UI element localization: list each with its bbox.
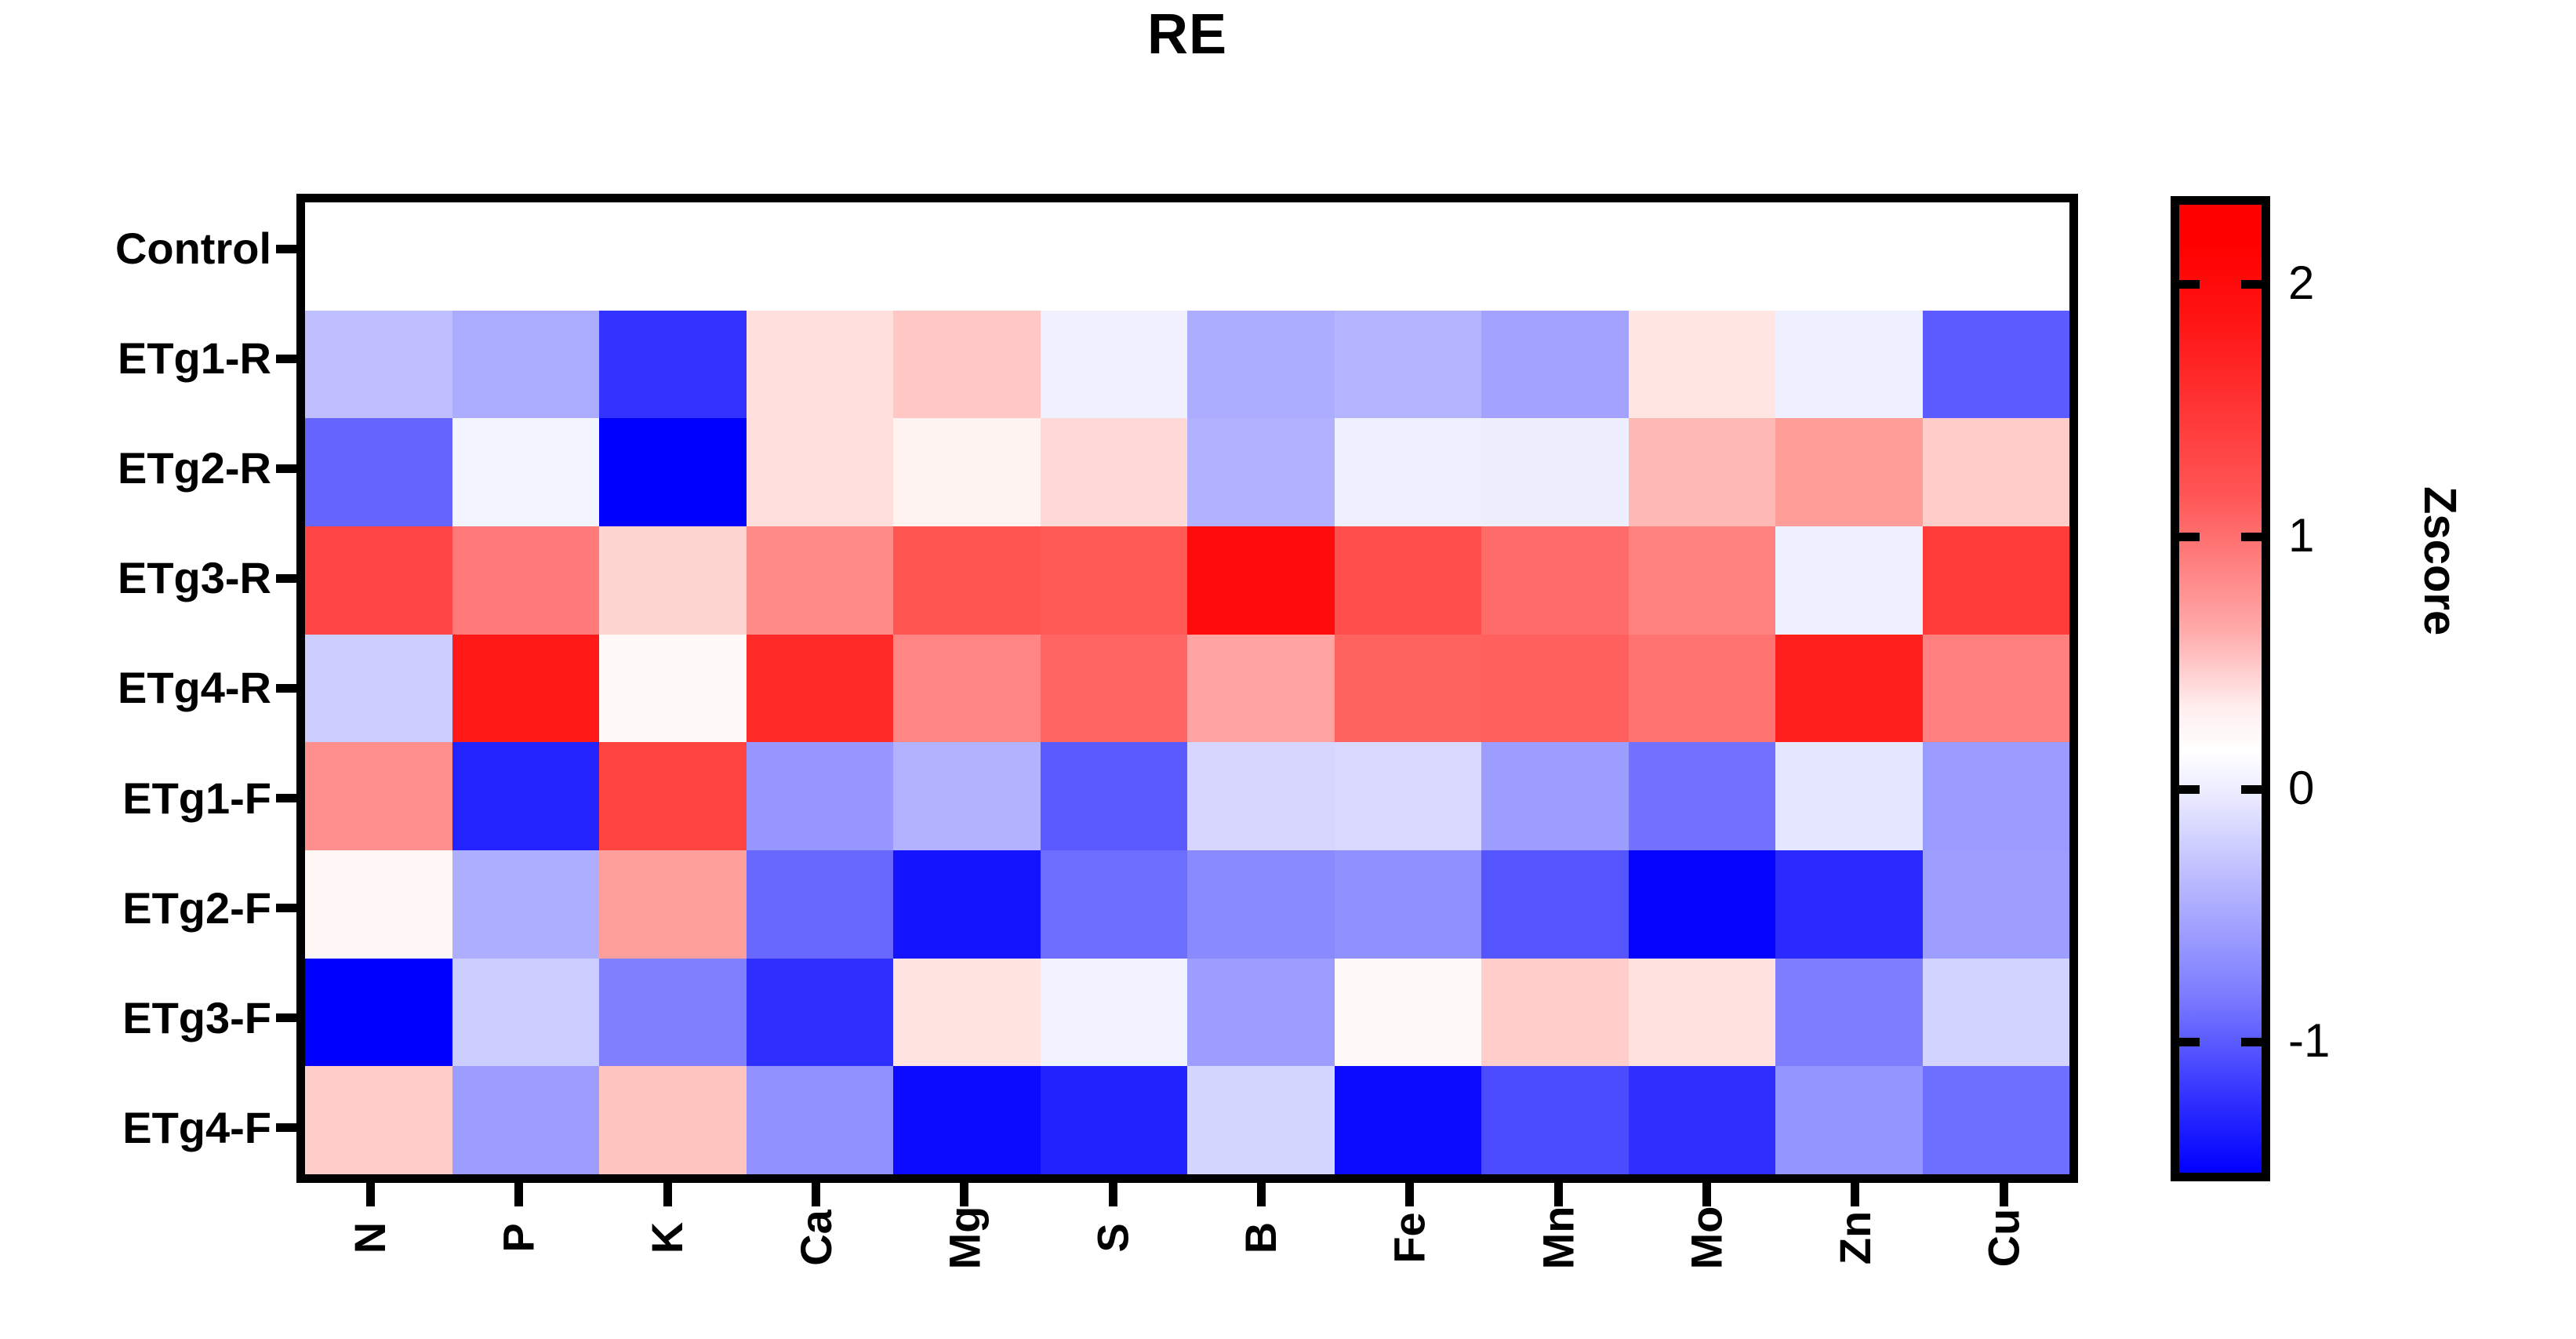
y-axis-tick: ETg2-R — [0, 413, 296, 523]
x-axis-tick-label: P — [497, 1223, 541, 1252]
x-axis-tick-label: S — [1091, 1223, 1135, 1252]
heatmap-cell — [1923, 742, 2070, 850]
heatmap-cell — [1481, 1066, 1629, 1174]
x-axis-tick: N — [296, 1183, 445, 1339]
y-axis-tick-label: Control — [115, 227, 271, 271]
heatmap-cell — [1481, 742, 1629, 850]
x-axis: NPKCaMgSBFeMnMoZnCu — [296, 1183, 2078, 1339]
heatmap-cell — [599, 202, 747, 311]
y-axis-tick: ETg3-F — [0, 963, 296, 1073]
colorbar-tick-mark — [2179, 280, 2200, 289]
x-axis-tick: K — [594, 1183, 742, 1339]
x-axis-tick: Mg — [890, 1183, 1038, 1339]
y-axis-tick-mark — [276, 355, 296, 363]
heatmap-cell — [1481, 418, 1629, 526]
heatmap-cell — [1335, 202, 1482, 311]
heatmap-cell — [599, 1066, 747, 1174]
heatmap-cell — [305, 311, 452, 419]
heatmap-cell — [1187, 1066, 1335, 1174]
heatmap-cell — [1481, 311, 1629, 419]
colorbar-tick-label: 1 — [2288, 512, 2314, 559]
y-axis-tick-label: ETg3-F — [122, 996, 271, 1040]
heatmap-cell — [1481, 526, 1629, 635]
y-axis-tick-label: ETg1-F — [122, 777, 271, 821]
heatmap-cell — [1041, 202, 1188, 311]
heatmap-cell — [452, 202, 600, 311]
heatmap-cell — [1481, 635, 1629, 743]
y-axis-tick-mark — [276, 794, 296, 802]
heatmap-cell — [1775, 526, 1923, 635]
y-axis-tick: ETg1-F — [0, 744, 296, 853]
colorbar-tick-mark — [2241, 785, 2262, 794]
x-axis-tick: Cu — [1930, 1183, 2078, 1339]
x-axis-tick: P — [445, 1183, 593, 1339]
x-axis-tick: Mo — [1633, 1183, 1781, 1339]
heatmap-grid — [305, 202, 2069, 1174]
heatmap-cell — [747, 311, 894, 419]
y-axis-tick-mark — [276, 1123, 296, 1132]
x-axis-tick-label: Ca — [794, 1210, 838, 1266]
heatmap-cell — [1629, 202, 1776, 311]
heatmap-cell — [893, 742, 1041, 850]
heatmap-cell — [1923, 635, 2070, 743]
heatmap-cell — [1775, 418, 1923, 526]
heatmap-cell — [1187, 311, 1335, 419]
heatmap-cell — [599, 418, 747, 526]
x-axis-tick-label: K — [645, 1222, 689, 1253]
colorbar-tick-mark — [2241, 1038, 2262, 1046]
heatmap-cell — [1335, 959, 1482, 1067]
heatmap-cell — [1629, 959, 1776, 1067]
heatmap-cell — [1629, 635, 1776, 743]
heatmap-cell — [1775, 311, 1923, 419]
heatmap-cell — [305, 418, 452, 526]
heatmap-cell — [1187, 526, 1335, 635]
heatmap-cell — [305, 526, 452, 635]
heatmap-cell — [1335, 526, 1482, 635]
heatmap-cell — [1187, 742, 1335, 850]
colorbar-tick-mark — [2241, 533, 2262, 541]
heatmap-cell — [1629, 311, 1776, 419]
x-axis-tick: Fe — [1335, 1183, 1484, 1339]
heatmap-cell — [1041, 959, 1188, 1067]
x-axis-tick-mark — [1257, 1183, 1266, 1206]
heatmap-cell — [893, 1066, 1041, 1174]
colorbar-axis-label: Zscore — [2417, 486, 2462, 635]
colorbar-tick-label: -1 — [2288, 1017, 2330, 1064]
x-axis-tick-label: Mn — [1536, 1206, 1580, 1270]
heatmap-cell — [1923, 202, 2070, 311]
heatmap-cell — [1187, 635, 1335, 743]
heatmap-cell — [1335, 1066, 1482, 1174]
heatmap-cell — [747, 850, 894, 959]
x-axis-tick-label: Fe — [1388, 1212, 1432, 1263]
heatmap-cell — [1629, 526, 1776, 635]
y-axis-tick: ETg2-F — [0, 853, 296, 963]
x-axis-tick-mark — [1405, 1183, 1414, 1206]
heatmap-cell — [305, 742, 452, 850]
x-axis-tick-mark — [366, 1183, 375, 1206]
heatmap-cell — [305, 850, 452, 959]
x-axis-tick-label: Mg — [943, 1206, 986, 1270]
y-axis-tick-mark — [276, 245, 296, 253]
heatmap-cell — [1041, 635, 1188, 743]
heatmap-cell — [1187, 418, 1335, 526]
heatmap-cell — [893, 311, 1041, 419]
heatmap-cell — [1041, 742, 1188, 850]
y-axis-tick: ETg4-R — [0, 633, 296, 743]
x-axis-tick-mark — [2000, 1183, 2008, 1206]
heatmap-cell — [1187, 959, 1335, 1067]
heatmap-cell — [305, 202, 452, 311]
heatmap-cell — [1335, 635, 1482, 743]
y-axis-tick-mark — [276, 684, 296, 693]
x-axis-tick: S — [1039, 1183, 1187, 1339]
x-axis-tick: Zn — [1781, 1183, 1929, 1339]
heatmap-cell — [599, 742, 747, 850]
heatmap-cell — [599, 850, 747, 959]
heatmap-cell — [599, 526, 747, 635]
heatmap-cell — [747, 526, 894, 635]
x-axis-tick: Ca — [742, 1183, 890, 1339]
heatmap-cell — [1481, 202, 1629, 311]
x-axis-tick-label: Mo — [1685, 1206, 1729, 1270]
y-axis-tick-mark — [276, 464, 296, 473]
colorbar-tick-mark — [2179, 1038, 2200, 1046]
heatmap-cell — [1629, 742, 1776, 850]
y-axis-tick: ETg3-R — [0, 523, 296, 633]
heatmap-cell — [452, 742, 600, 850]
y-axis-tick: Control — [0, 194, 296, 304]
y-axis-tick-label: ETg3-R — [118, 556, 271, 600]
heatmap-cell — [1041, 1066, 1188, 1174]
y-axis-tick-mark — [276, 574, 296, 583]
heatmap-cell — [1629, 418, 1776, 526]
heatmap-cell — [599, 311, 747, 419]
heatmap-cell — [599, 635, 747, 743]
y-axis-tick-mark — [276, 904, 296, 912]
heatmap-cell — [1335, 418, 1482, 526]
x-axis-tick-mark — [663, 1183, 672, 1206]
heatmap-cell — [747, 202, 894, 311]
y-axis-tick-label: ETg2-R — [118, 446, 271, 490]
heatmap-cell — [452, 850, 600, 959]
heatmap-cell — [452, 418, 600, 526]
y-axis: ControlETg1-RETg2-RETg3-RETg4-RETg1-FETg… — [0, 194, 296, 1183]
x-axis-tick: B — [1187, 1183, 1335, 1339]
heatmap-cell — [1923, 850, 2070, 959]
heatmap-cell — [1041, 526, 1188, 635]
x-axis-tick-mark — [1851, 1183, 1859, 1206]
x-axis-tick-label: N — [349, 1222, 393, 1253]
heatmap-cell — [1923, 1066, 2070, 1174]
heatmap-cell — [305, 635, 452, 743]
colorbar-tick-label: 0 — [2288, 765, 2314, 812]
heatmap-cell — [1481, 959, 1629, 1067]
heatmap-cell — [452, 311, 600, 419]
heatmap-cell — [1923, 526, 2070, 635]
heatmap-cell — [1775, 850, 1923, 959]
y-axis-tick-label: ETg4-F — [122, 1106, 271, 1150]
heatmap-cell — [747, 1066, 894, 1174]
heatmap-cell — [1923, 418, 2070, 526]
x-axis-tick-mark — [1702, 1183, 1711, 1206]
heatmap-cell — [599, 959, 747, 1067]
heatmap-cell — [305, 1066, 452, 1174]
heatmap-cell — [1923, 959, 2070, 1067]
heatmap-cell — [893, 526, 1041, 635]
heatmap-cell — [452, 959, 600, 1067]
y-axis-tick: ETg1-R — [0, 304, 296, 413]
heatmap-cell — [1481, 850, 1629, 959]
heatmap-cell — [1775, 742, 1923, 850]
heatmap-plot-area — [296, 194, 2078, 1183]
heatmap-cell — [305, 959, 452, 1067]
heatmap-cell — [1041, 418, 1188, 526]
heatmap-cell — [893, 635, 1041, 743]
heatmap-cell — [1629, 1066, 1776, 1174]
heatmap-cell — [1187, 850, 1335, 959]
y-axis-tick: ETg4-F — [0, 1073, 296, 1183]
y-axis-tick-label: ETg1-R — [118, 337, 271, 380]
heatmap-cell — [1335, 742, 1482, 850]
x-axis-tick-mark — [812, 1183, 820, 1206]
heatmap-cell — [747, 959, 894, 1067]
heatmap-cell — [747, 742, 894, 850]
heatmap-cell — [1335, 311, 1482, 419]
x-axis-tick-label: Zn — [1833, 1211, 1877, 1264]
colorbar-tick-mark — [2179, 785, 2200, 794]
x-axis-tick-mark — [1109, 1183, 1117, 1206]
heatmap-cell — [452, 635, 600, 743]
heatmap-cell — [1923, 311, 2070, 419]
heatmap-cell — [1629, 850, 1776, 959]
colorbar-tick-mark — [2241, 280, 2262, 289]
page-title: RE — [296, 6, 2078, 63]
heatmap-cell — [893, 418, 1041, 526]
colorbar: 210-1 — [2171, 196, 2270, 1181]
x-axis-tick-label: Cu — [1982, 1209, 2026, 1268]
x-axis-tick: Mn — [1484, 1183, 1633, 1339]
y-axis-tick-label: ETg2-F — [122, 886, 271, 930]
heatmap-cell — [452, 1066, 600, 1174]
colorbar-tick-label: 2 — [2288, 260, 2314, 307]
heatmap-cell — [747, 418, 894, 526]
heatmap-cell — [893, 850, 1041, 959]
heatmap-cell — [1041, 311, 1188, 419]
heatmap-cell — [1775, 959, 1923, 1067]
heatmap-cell — [747, 635, 894, 743]
x-axis-tick-mark — [514, 1183, 523, 1206]
y-axis-tick-label: ETg4-R — [118, 666, 271, 710]
heatmap-cell — [1775, 635, 1923, 743]
heatmap-cell — [1775, 1066, 1923, 1174]
colorbar-gradient — [2171, 196, 2270, 1181]
heatmap-cell — [1335, 850, 1482, 959]
heatmap-cell — [1187, 202, 1335, 311]
x-axis-tick-mark — [960, 1183, 968, 1206]
y-axis-tick-mark — [276, 1013, 296, 1022]
heatmap-cell — [893, 202, 1041, 311]
x-axis-tick-mark — [1554, 1183, 1563, 1206]
colorbar-tick-mark — [2179, 533, 2200, 541]
heatmap-cell — [893, 959, 1041, 1067]
heatmap-cell — [1775, 202, 1923, 311]
heatmap-cell — [452, 526, 600, 635]
heatmap-cell — [1041, 850, 1188, 959]
x-axis-tick-label: B — [1240, 1222, 1284, 1253]
